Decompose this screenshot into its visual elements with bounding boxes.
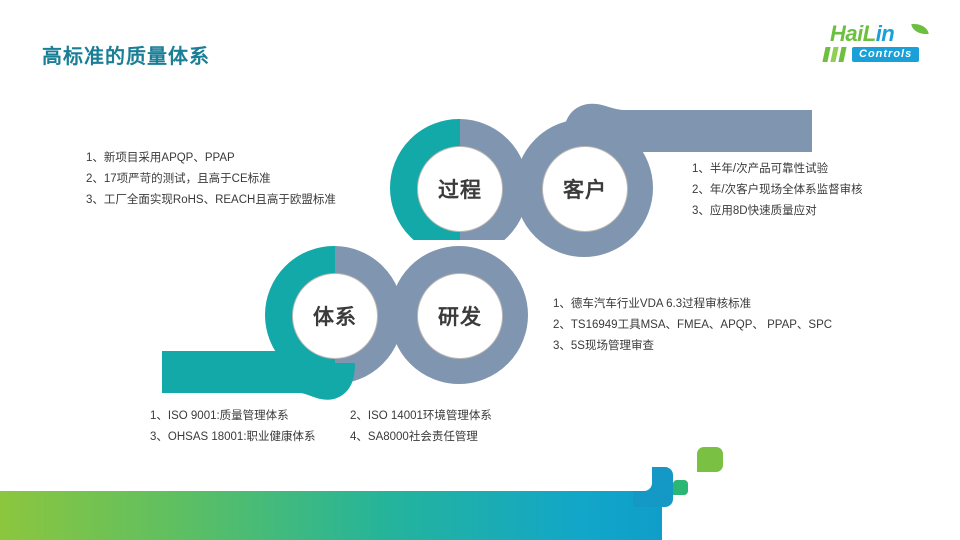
table-row: 3、OHSAS 18001:职业健康体系 4、SA8000社会责任管理 xyxy=(150,427,492,448)
text-block-top-right: 1、半年/次产品可靠性试验 2、年/次客户现场全体系监督审核 3、应用8D快速质… xyxy=(692,159,863,222)
decorative-square-teal xyxy=(673,480,688,495)
text-cell: 2、ISO 14001环境管理体系 xyxy=(350,406,492,427)
text-line: 2、17项严苛的测试，且高于CE标准 xyxy=(86,169,336,190)
slide-root: 高标准的质量体系 HaiLin Controls xyxy=(0,0,960,540)
decorative-square-blue-cutout xyxy=(633,467,652,491)
text-line: 2、年/次客户现场全体系监督审核 xyxy=(692,180,863,201)
node-process[interactable]: 过程 xyxy=(417,146,503,232)
text-line: 1、半年/次产品可靠性试验 xyxy=(692,159,863,180)
text-block-middle-right: 1、德车汽车行业VDA 6.3过程审核标准 2、TS16949工具MSA、FME… xyxy=(553,294,832,357)
text-line: 2、TS16949工具MSA、FMEA、APQP、 PPAP、SPC xyxy=(553,315,832,336)
node-process-label: 过程 xyxy=(438,174,482,204)
text-cell: 3、OHSAS 18001:职业健康体系 xyxy=(150,427,350,448)
node-customer[interactable]: 客户 xyxy=(542,146,628,232)
table-row: 1、ISO 9001:质量管理体系 2、ISO 14001环境管理体系 xyxy=(150,406,492,427)
node-rd[interactable]: 研发 xyxy=(417,273,503,359)
process-ribbon-diagram xyxy=(0,0,960,470)
text-cell: 1、ISO 9001:质量管理体系 xyxy=(150,406,350,427)
text-block-top-left: 1、新项目采用APQP、PPAP 2、17项严苛的测试，且高于CE标准 3、工厂… xyxy=(86,148,336,211)
decorative-square-green xyxy=(697,447,723,472)
text-line: 3、应用8D快速质量应对 xyxy=(692,201,863,222)
ribbon-right-tail xyxy=(584,125,812,140)
text-line: 3、5S现场管理审查 xyxy=(553,336,832,357)
text-line: 1、德车汽车行业VDA 6.3过程审核标准 xyxy=(553,294,832,315)
node-customer-label: 客户 xyxy=(563,174,607,204)
node-system-label: 体系 xyxy=(313,301,357,331)
text-block-bottom-left: 1、ISO 9001:质量管理体系 2、ISO 14001环境管理体系 3、OH… xyxy=(150,406,492,448)
footer-gradient-bar xyxy=(0,491,662,540)
node-system[interactable]: 体系 xyxy=(292,273,378,359)
text-line: 1、新项目采用APQP、PPAP xyxy=(86,148,336,169)
text-line: 3、工厂全面实现RoHS、REACH且高于欧盟标准 xyxy=(86,190,336,211)
ribbon-left-tail xyxy=(162,363,334,379)
text-cell: 4、SA8000社会责任管理 xyxy=(350,427,478,448)
node-rd-label: 研发 xyxy=(438,301,482,331)
